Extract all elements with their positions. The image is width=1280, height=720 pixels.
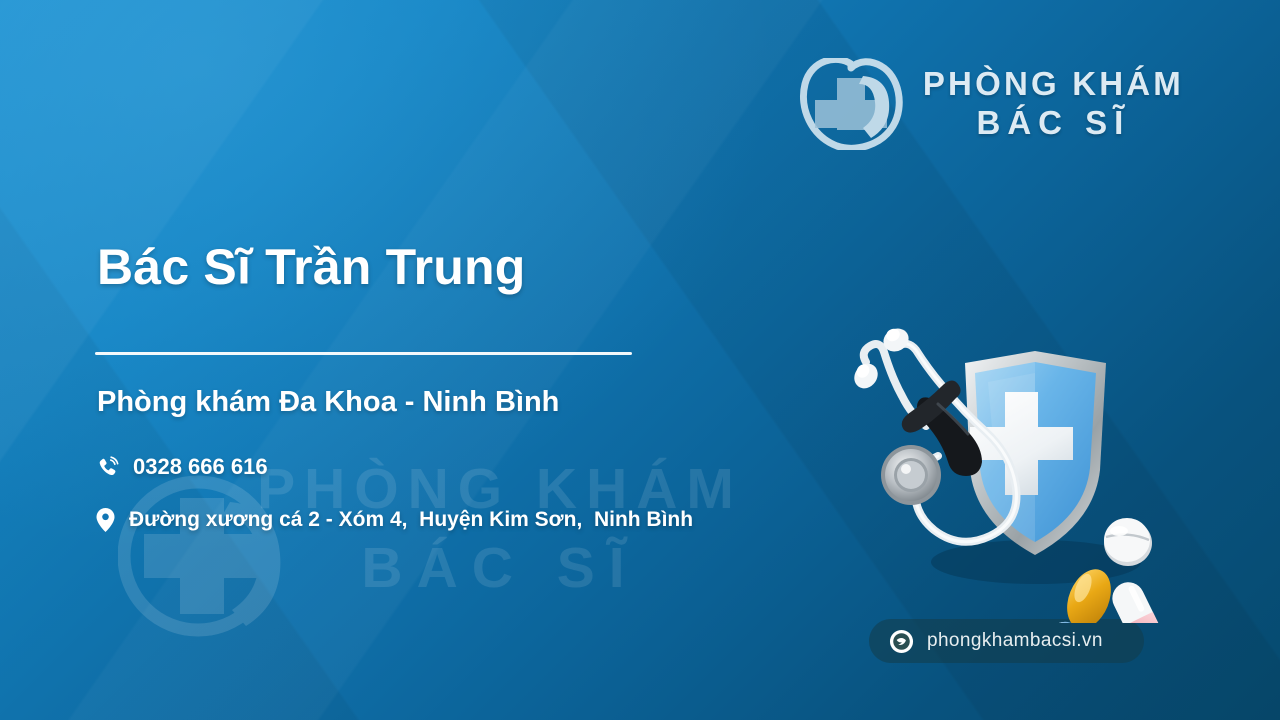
map-pin-icon — [96, 508, 115, 532]
page-title: Bác Sĩ Trần Trung — [97, 238, 526, 296]
address-text: Đường xương cá 2 - Xóm 4, Huyện Kim Sơn,… — [129, 508, 693, 532]
phone-number: 0328 666 616 — [133, 454, 268, 480]
logo-line-2: BÁC SĨ — [923, 104, 1184, 143]
watermark-line-2: BÁC SĨ — [150, 529, 850, 608]
phone-row[interactable]: 0328 666 616 — [96, 454, 268, 480]
logo-medical-cross-heart-icon — [797, 58, 905, 150]
globe-icon — [889, 629, 914, 654]
website-badge[interactable]: phongkhambacsi.vn — [869, 619, 1144, 663]
watermark-medical-cross-circle-icon — [118, 472, 294, 640]
phone-ringing-icon — [96, 456, 119, 479]
brand-logo: PHÒNG KHÁM BÁC SĨ — [797, 58, 1184, 150]
medical-shield-stethoscope-pills-illustration — [838, 318, 1183, 623]
logo-text: PHÒNG KHÁM BÁC SĨ — [923, 65, 1184, 143]
title-divider — [95, 352, 632, 355]
clinic-banner: PHÒNG KHÁM BÁC SĨ PHÒNG KHÁM BÁC SĨ Bác … — [0, 0, 1280, 720]
website-url: phongkhambacsi.vn — [927, 630, 1103, 652]
address-row[interactable]: Đường xương cá 2 - Xóm 4, Huyện Kim Sơn,… — [96, 508, 693, 532]
logo-line-1: PHÒNG KHÁM — [923, 65, 1184, 104]
clinic-subtitle: Phòng khám Đa Khoa - Ninh Bình — [97, 386, 559, 419]
